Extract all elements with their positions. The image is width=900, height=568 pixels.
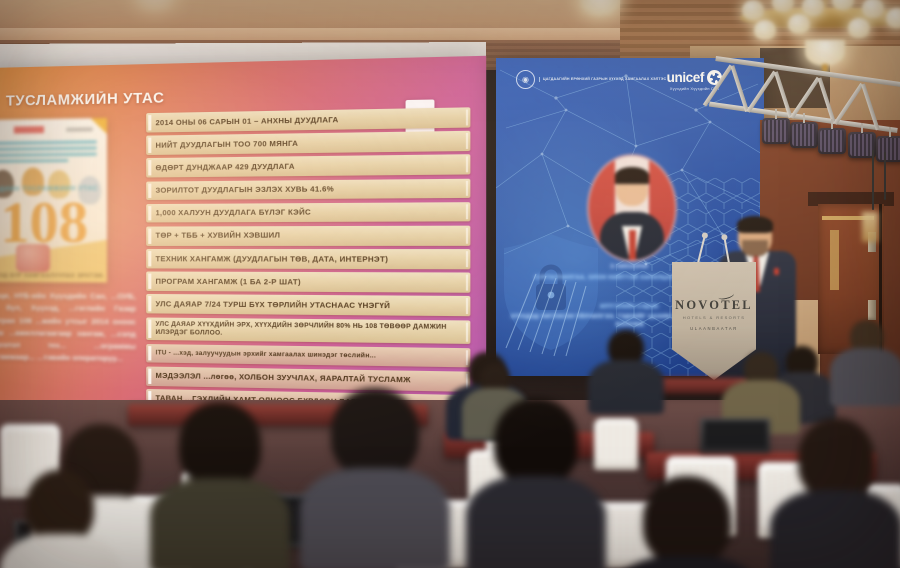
stage-light-fixture xyxy=(876,136,900,162)
audience-head xyxy=(494,398,578,486)
slide-bullet-item: НИЙТ ДУУДЛАГЫН ТОО 700 МЯНГА xyxy=(146,131,470,155)
audience-member-foreground xyxy=(612,476,762,568)
poster-telephone-icon xyxy=(16,244,50,272)
slide-bullet-text: МЭДЭЭЛЭЛ ...лөгөө, ХОЛБОН ЗУУЧЛАХ, ЯАРАЛ… xyxy=(156,371,411,385)
slide-body-paragraph: ...ваци, НҮБ-ийн Хүүхдийн Сан, ...ОУБ, Г… xyxy=(0,290,136,366)
stage-light-fixture xyxy=(818,128,846,154)
audience-member-foreground xyxy=(0,470,120,568)
slide-bullet-text: 1,000 ХАЛУУН ДУУДЛАГА БҮЛЭГ КЭЙС xyxy=(156,207,311,217)
audience-body xyxy=(0,534,120,568)
slide-bullet-item: ПРОГРАМ ХАНГАМЖ (1 БА 2-Р ШАТ) xyxy=(146,272,470,293)
stage-light-fixture xyxy=(790,122,818,148)
police-org-label: ЦАГДААГИЙН ЕРӨНХИЙ ГАЗРЫН ХҮҮХЭД ХАМГААЛ… xyxy=(539,77,666,81)
speaker-portrait xyxy=(587,154,677,262)
conference-photo-scene: ТУСЛАМЖИЙН УТАС ХҮҮХДИЙН ТУСЛАМЖИЙН УТАС… xyxy=(0,0,900,568)
slide-bullet-list: 2014 ОНЫ 06 САРЫН 01 – АНХНЫ ДУУДЛАГАНИЙ… xyxy=(146,107,470,418)
slide-bullet-item: УЛС ДАЯАР 7/24 ТУРШ БҮХ ТӨРЛИЙН УТАСНААС… xyxy=(146,294,470,316)
poster-image: ХҮҮХДИЙН ТУСЛАМЖИЙН УТАС 108 ХҮҮХЭД БҮР … xyxy=(0,118,107,283)
slide-bullet-item: 1,000 ХАЛУУН ДУУДЛАГА БҮЛЭГ КЭЙС xyxy=(146,202,470,223)
slide-bullet-item: ITU - ...хэд, залуучуудын эрхийг хамгаал… xyxy=(146,344,470,368)
poster-logo-icon xyxy=(14,126,44,134)
audience-body xyxy=(300,468,450,568)
chandelier-bulb xyxy=(862,0,884,18)
audience-member-foreground xyxy=(150,402,290,568)
audience-body xyxy=(466,476,606,568)
slide-bullet-text: УЛС ДАЯАР ХҮҮХДИЙН ЭРХ, ХҮҮХДИЙН ЗӨРЧЛИЙ… xyxy=(156,320,462,340)
audience-body xyxy=(770,490,900,568)
chandelier-secondary-icon xyxy=(525,0,675,40)
poster-header-lines xyxy=(0,140,97,165)
portrait-hair xyxy=(615,167,649,184)
poster-corner-accent xyxy=(91,118,107,135)
poster-header-line xyxy=(0,140,97,144)
slide-title: ТУСЛАМЖИЙН УТАС xyxy=(6,84,468,110)
left-projection-screen: ТУСЛАМЖИЙН УТАС ХҮҮХДИЙН ТУСЛАМЖИЙН УТАС… xyxy=(0,56,486,440)
slide-bullet-text: НИЙТ ДУУДЛАГЫН ТОО 700 МЯНГА xyxy=(156,138,299,150)
audience-head xyxy=(26,470,94,544)
poster-header-line xyxy=(0,153,97,157)
slide-bullet-text: ЗОРИЛТОТ ДУУДЛАГЫН ЭЗЛЭХ ХУВЬ 41.6% xyxy=(156,184,334,195)
poster-partner-logo-icon xyxy=(66,127,92,131)
slide-bullet-item: 2014 ОНЫ 06 САРЫН 01 – АНХНЫ ДУУДЛАГА xyxy=(146,107,470,132)
chandelier-distant-icon xyxy=(95,0,215,24)
slide-bullet-item: ӨДӨРТ ДУНДЖААР 429 ДУУДЛАГА xyxy=(146,155,470,178)
audience-body xyxy=(830,348,900,406)
speaker-hair xyxy=(737,216,773,233)
speaker-beard xyxy=(742,240,768,257)
slide-bullet-item: ТӨР + ТББ + ХУВИЙН ХЭВШИЛ xyxy=(146,225,470,245)
chandelier-globe xyxy=(580,0,620,16)
slide-bullet-item: ТЕХНИК ХАНГАМЖ (ДУУДЛАГЫН ТӨВ, ДАТА, ИНТ… xyxy=(146,249,470,269)
door-inlay xyxy=(830,230,839,290)
audience-head xyxy=(179,402,261,488)
slide-bullet-text: 2014 ОНЫ 06 САРЫН 01 – АНХНЫ ДУУДЛАГА xyxy=(156,114,339,127)
podium-city-label: ULAANBAATAR xyxy=(672,326,756,331)
slide-bullet-text: УЛС ДАЯАР 7/24 ТУРШ БҮХ ТӨРЛИЙН УТАСНААС… xyxy=(156,299,391,310)
poster-header-line xyxy=(0,159,68,163)
unicef-wordmark: unicef xyxy=(667,70,704,85)
slide-bullet-text: ПРОГРАМ ХАНГАМЖ (1 БА 2-Р ШАТ) xyxy=(156,276,301,286)
slide-bullet-text: ITU - ...хэд, залуучуудын эрхийг хамгаал… xyxy=(156,349,377,360)
audience-body xyxy=(612,556,762,568)
audience-body xyxy=(150,478,290,568)
audience-member-foreground xyxy=(466,398,606,568)
audience-member xyxy=(830,320,900,404)
audience-laptop[interactable] xyxy=(700,418,770,452)
police-org-logo: ◉ ЦАГДААГИЙН ЕРӨНХИЙ ГАЗРЫН ХҮҮХЭД ХАМГА… xyxy=(516,70,666,89)
door-hinge-icon xyxy=(868,300,876,320)
audience-head xyxy=(643,476,731,566)
audience-member-foreground xyxy=(300,388,450,568)
slide-bullet-text: ТӨР + ТББ + ХУВИЙН ХЭВШИЛ xyxy=(156,231,281,241)
poster-header-line xyxy=(0,147,97,151)
chandelier-bulb xyxy=(886,8,900,28)
chandelier-bulb xyxy=(848,18,870,38)
podium-brand-subtitle: HOTELS & RESORTS xyxy=(672,315,756,320)
light-cable xyxy=(884,152,886,200)
slide-bullet-text: ӨДӨРТ ДУНДЖААР 429 ДУУДЛАГА xyxy=(156,161,295,172)
slide-bullet-text: ТЕХНИК ХАНГАМЖ (ДУУДЛАГЫН ТӨВ, ДАТА, ИНТ… xyxy=(156,254,389,264)
podium-brand-name: NOVOTEL xyxy=(672,298,756,313)
portrait-tie xyxy=(629,230,636,260)
slide-bullet-item: УЛС ДАЯАР ХҮҮХДИЙН ЭРХ, ХҮҮХДИЙН ЗӨРЧЛИЙ… xyxy=(146,317,470,344)
speaker-lapel-pin xyxy=(774,268,779,275)
presentation-slide: ТУСЛАМЖИЙН УТАС ХҮҮХДИЙН ТУСЛАМЖИЙН УТАС… xyxy=(0,56,486,440)
audience-head xyxy=(331,388,419,478)
chandelier-globe xyxy=(135,0,175,10)
light-cable xyxy=(872,150,874,210)
audience-head xyxy=(798,418,874,500)
police-emblem-icon: ◉ xyxy=(516,70,535,89)
audience-member-foreground xyxy=(770,418,900,568)
stage-light-fixture xyxy=(762,118,790,144)
poster-footer-text: ХҮҮХЭД БҮР ХАМГААЛУУЛАХ ЭРХТЭЙ. xyxy=(0,273,107,280)
slide-bullet-item: ЗОРИЛТОТ ДУУДЛАГЫН ЭЗЛЭХ ХУВЬ 41.6% xyxy=(146,178,470,200)
